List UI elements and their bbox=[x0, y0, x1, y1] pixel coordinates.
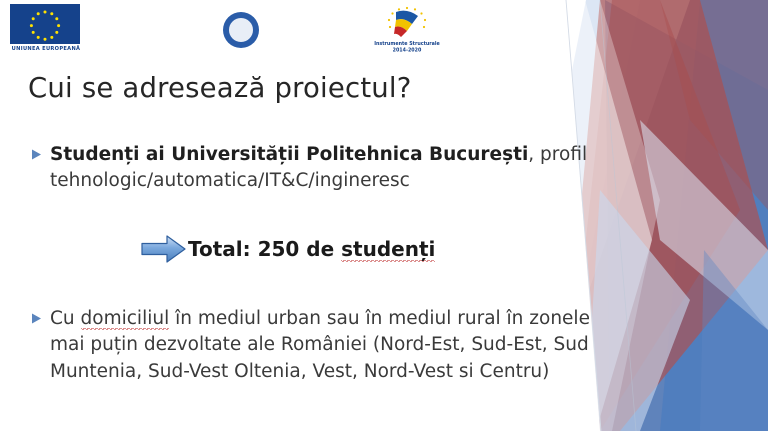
presentation-slide: UNIUNEA EUROPEANĂ bbox=[0, 0, 768, 431]
total-label-prefix: Total: 250 de bbox=[188, 237, 341, 261]
bullet-text-students: Studenți ai Universității Politehnica Bu… bbox=[50, 142, 590, 195]
right-arrow-icon bbox=[140, 234, 187, 264]
total-callout: Total: 250 de studenți bbox=[140, 234, 435, 264]
total-label-misspelled: studenți bbox=[341, 237, 435, 262]
bullet-text-residence: Cu domiciliul în mediul urban sau în med… bbox=[50, 306, 610, 385]
slide-content: Cui se adresează proiectul? Studenți ai … bbox=[0, 0, 768, 431]
page-title: Cui se adresează proiectul? bbox=[28, 72, 412, 104]
triangle-bullet-icon bbox=[30, 312, 43, 325]
bullet-students-bold: Studenți ai Universității Politehnica Bu… bbox=[50, 144, 528, 165]
bullet-residence-misspelled: domiciliul bbox=[81, 308, 170, 330]
bullet-item-residence: Cu domiciliul în mediul urban sau în med… bbox=[30, 306, 610, 385]
bullet-item-students: Studenți ai Universității Politehnica Bu… bbox=[30, 142, 590, 195]
bullet-residence-lead: Cu bbox=[50, 308, 81, 329]
total-label: Total: 250 de studenți bbox=[188, 237, 435, 261]
triangle-bullet-icon bbox=[30, 148, 43, 161]
